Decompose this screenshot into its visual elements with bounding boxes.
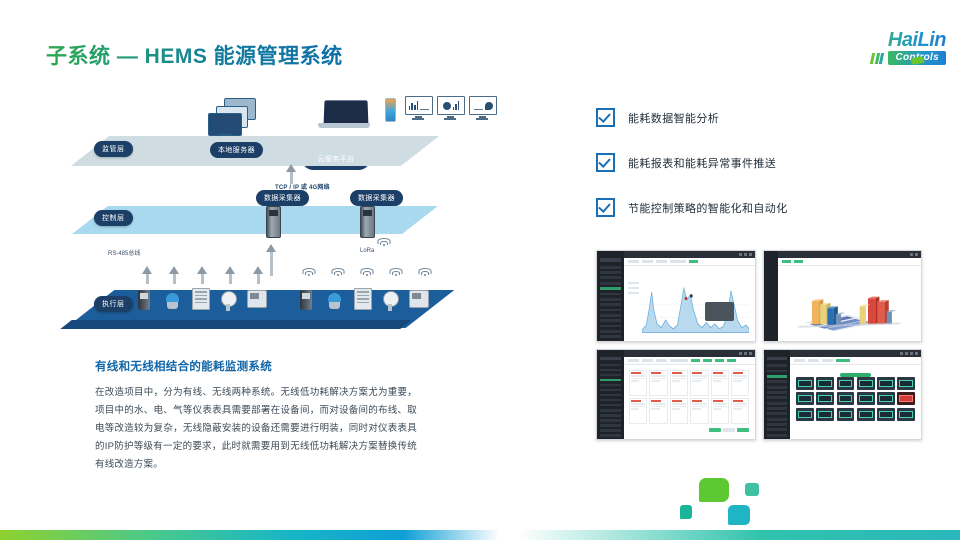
screenshot-4-sidebar <box>764 350 791 440</box>
screenshot-3-card-grid <box>627 368 752 426</box>
device-tile[interactable] <box>837 408 855 421</box>
wired-arrow-1-icon <box>142 266 152 274</box>
dashboard-screenshot-gallery <box>596 250 922 440</box>
device-card[interactable] <box>629 398 647 424</box>
screenshot-4-toolbar <box>790 357 921 365</box>
screenshot-3-pagination[interactable] <box>627 426 752 432</box>
device-tile[interactable] <box>837 392 855 405</box>
wired-arrow-5-icon <box>253 266 263 274</box>
screenshot-3-sidebar <box>597 350 624 440</box>
collector-2-label: 数据采集器 <box>350 190 403 206</box>
layer-badge-control: 控制层 <box>94 210 133 226</box>
wired-meter-electric-icon <box>138 290 150 348</box>
layer-badge-execution: 执行层 <box>94 296 133 312</box>
layer-badge-management: 监管层 <box>94 141 133 157</box>
lora-label: LoRa <box>360 248 374 254</box>
screenshot-1-canvas <box>624 266 755 341</box>
checklist-label-3: 节能控制策略的智能化和自动化 <box>628 200 788 216</box>
wireless-meter-electric-icon <box>300 290 312 348</box>
collector-1-label: 数据采集器 <box>256 190 309 206</box>
screenshot-4-main <box>790 350 921 440</box>
caption-title: 有线和无线相结合的能耗监测系统 <box>95 358 272 374</box>
uplink-arrow-head-icon <box>286 164 296 172</box>
device-card[interactable] <box>649 398 667 424</box>
wired-meter-gauge-icon <box>221 291 237 348</box>
brand-logo: HaiLin Controls <box>826 30 946 70</box>
device-tile[interactable] <box>877 377 895 390</box>
bottom-gradient-bar-right <box>518 530 960 540</box>
data-collector-wireless-icon <box>360 206 375 238</box>
checklist-item-3[interactable]: 节能控制策略的智能化和自动化 <box>596 198 926 217</box>
checklist-item-2[interactable]: 能耗报表和能耗异常事件推送 <box>596 153 926 172</box>
screenshot-3-main <box>624 350 755 440</box>
wired-meter-water-icon <box>166 293 179 348</box>
screenshot-2-bar-chart <box>789 285 914 335</box>
device-card[interactable] <box>731 398 749 424</box>
device-card[interactable] <box>670 398 688 424</box>
device-tile[interactable] <box>816 392 834 405</box>
device-tile[interactable] <box>877 392 895 405</box>
screenshot-2-main <box>778 251 921 341</box>
device-tile[interactable] <box>816 377 834 390</box>
screenshot-1-main <box>624 251 755 341</box>
screenshot-1-legend <box>628 282 640 297</box>
device-tile[interactable] <box>796 377 814 390</box>
wired-arrow-3-icon <box>197 266 207 274</box>
collector-riser-stem <box>270 250 273 276</box>
device-tile[interactable] <box>837 377 855 390</box>
checklist-label-1: 能耗数据智能分析 <box>628 110 719 126</box>
decorative-leaf-teal-small <box>680 505 692 519</box>
screen-analytics-icon <box>469 96 495 120</box>
screenshot-4-topbar <box>790 350 921 357</box>
screenshot-device-cards[interactable] <box>596 349 756 441</box>
lora-signal-icon <box>378 238 389 247</box>
device-card[interactable] <box>711 370 729 396</box>
checkbox-checked-icon[interactable] <box>596 153 615 172</box>
screenshot-4-canvas <box>790 365 921 440</box>
device-card[interactable] <box>711 398 729 424</box>
wireless-meter-water-icon <box>328 293 341 348</box>
device-tile-alarm[interactable] <box>897 392 915 405</box>
wired-meter-panel-icon <box>192 288 210 348</box>
device-tile[interactable] <box>897 377 915 390</box>
screenshot-4-tile-grid <box>793 374 918 424</box>
screenshot-1-tooltip <box>705 302 734 321</box>
screenshot-1-sidebar <box>597 251 624 341</box>
feature-checklist: 能耗数据智能分析 能耗报表和能耗异常事件推送 节能控制策略的智能化和自动化 <box>596 108 926 243</box>
decorative-leaf-mint <box>745 483 759 496</box>
screenshot-3-topbar <box>624 350 755 357</box>
wireless-signal-1-icon <box>303 268 314 277</box>
screenshot-energy-trend[interactable] <box>596 250 756 342</box>
device-tile[interactable] <box>857 408 875 421</box>
device-tile[interactable] <box>897 408 915 421</box>
device-tile[interactable] <box>857 392 875 405</box>
data-collector-wired-icon <box>266 206 281 238</box>
screenshot-3-canvas <box>624 365 755 440</box>
wireless-meter-panel-icon <box>354 288 372 348</box>
wired-arrow-4-icon <box>225 266 235 274</box>
logo-subline: Controls <box>826 51 946 65</box>
wireless-meter-gauge-icon <box>383 291 399 348</box>
wired-meter-gas-icon <box>247 290 267 348</box>
device-card[interactable] <box>731 370 749 396</box>
screenshot-2-sidebar <box>764 251 778 341</box>
local-server-monitors-icon <box>206 98 266 140</box>
slide-root: 子系统 — HEMS 能源管理系统 HaiLin Controls <box>0 0 960 540</box>
wireless-signal-3-icon <box>361 268 372 277</box>
screen-pie-chart-icon <box>437 96 463 120</box>
screenshot-1-topbar <box>624 251 755 258</box>
architecture-diagram: 云服务平台 监管层 本地服务器 TCP / IP 或 4G网络 控制层 数据采集… <box>60 78 540 348</box>
decorative-leaf-teal <box>728 505 750 525</box>
screenshot-2-toolbar <box>778 258 921 266</box>
checklist-item-1[interactable]: 能耗数据智能分析 <box>596 108 926 127</box>
laptop-icon <box>318 100 370 130</box>
device-card[interactable] <box>690 370 708 396</box>
checkbox-checked-icon[interactable] <box>596 108 615 127</box>
device-tile[interactable] <box>796 392 814 405</box>
checkbox-checked-icon[interactable] <box>596 198 615 217</box>
rs485-bus-label: RS-485总线 <box>108 248 140 257</box>
mobile-phone-icon <box>385 98 396 122</box>
caption-body: 在改造项目中，分为有线、无线两种系统。无线低功耗解决方案尤为重要，项目中的水、电… <box>95 384 417 474</box>
device-card[interactable] <box>629 370 647 396</box>
wired-arrow-2-icon <box>169 266 179 274</box>
page-title: 子系统 — HEMS 能源管理系统 <box>46 40 343 70</box>
device-tile[interactable] <box>796 408 814 421</box>
device-card[interactable] <box>649 370 667 396</box>
wireless-signal-4-icon <box>390 268 401 277</box>
logo-bars-icon <box>871 53 883 64</box>
device-tile[interactable] <box>857 377 875 390</box>
wireless-signal-2-icon <box>332 268 343 277</box>
screenshot-3-toolbar <box>624 357 755 365</box>
screenshot-2-canvas <box>778 266 921 341</box>
cloud-platform-label: 云服务平台 <box>318 154 355 164</box>
decorative-leaf-green <box>699 478 729 502</box>
dashboard-screens-icons <box>405 96 495 120</box>
logo-wordmark: HaiLin <box>826 30 946 50</box>
screenshot-energy-comparison[interactable] <box>763 250 923 342</box>
device-card[interactable] <box>690 398 708 424</box>
collector-riser-head-icon <box>266 244 276 252</box>
screenshot-device-status[interactable] <box>763 349 923 441</box>
checklist-label-2: 能耗报表和能耗异常事件推送 <box>628 155 776 171</box>
local-server-label: 本地服务器 <box>210 142 263 158</box>
device-tile[interactable] <box>816 408 834 421</box>
screenshot-2-topbar <box>778 251 921 258</box>
device-tile[interactable] <box>877 408 895 421</box>
wireless-meter-gas-icon <box>409 290 429 348</box>
screen-bar-chart-icon <box>405 96 431 120</box>
device-card[interactable] <box>670 370 688 396</box>
wireless-signal-5-icon <box>419 268 430 277</box>
screenshot-1-toolbar <box>624 258 755 266</box>
